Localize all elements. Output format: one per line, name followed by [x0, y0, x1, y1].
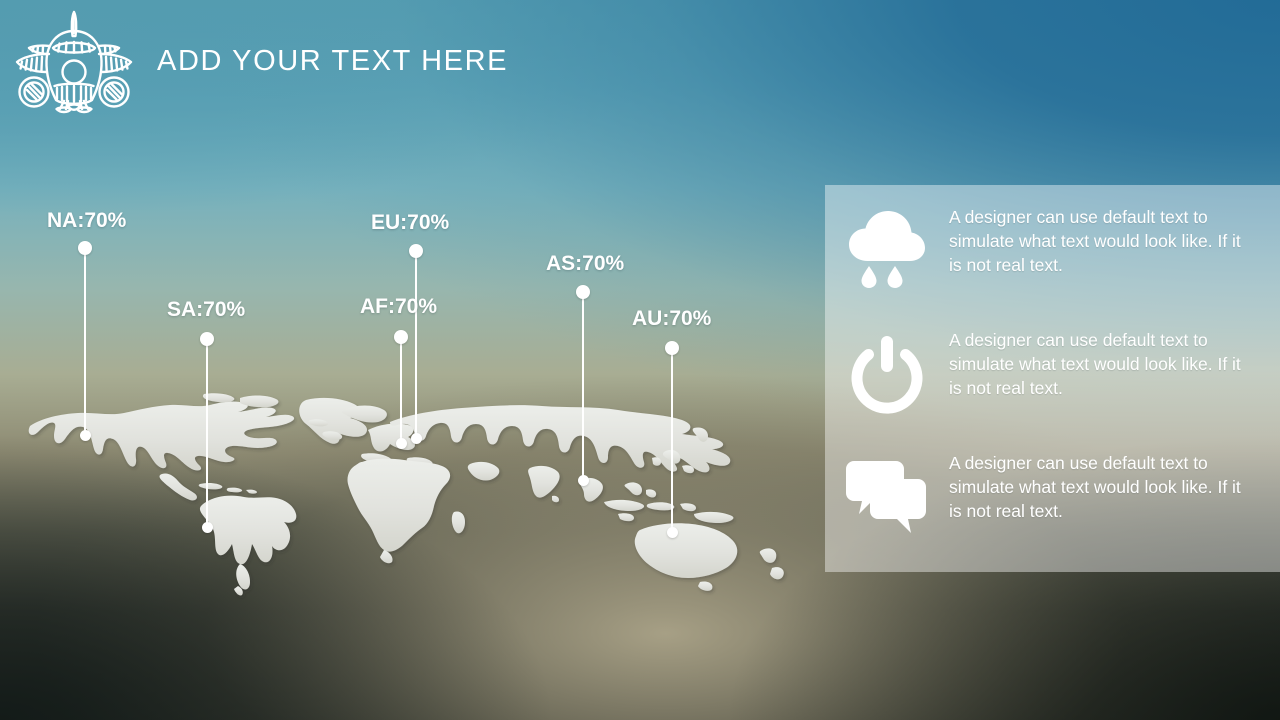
map-pin-as[interactable]	[576, 285, 590, 487]
pin-stem	[415, 251, 417, 438]
map-pin-eu[interactable]	[409, 244, 423, 445]
pin-head-icon	[665, 341, 679, 355]
pin-anchor-dot	[578, 475, 589, 486]
pin-anchor-dot	[396, 438, 407, 449]
map-pin-af[interactable]	[394, 330, 408, 450]
pin-label-as: AS:70%	[546, 252, 624, 276]
header: ADD YOUR TEXT HERE	[0, 0, 1280, 128]
page-title: ADD YOUR TEXT HERE	[157, 45, 508, 78]
pin-head-icon	[409, 244, 423, 258]
pin-head-icon	[78, 241, 92, 255]
pin-head-icon	[200, 332, 214, 346]
info-row-text: A designer can use default text to simul…	[949, 451, 1254, 523]
pin-anchor-dot	[202, 522, 213, 533]
info-row-text: A designer can use default text to simul…	[949, 205, 1254, 277]
pin-stem	[400, 337, 402, 443]
pin-anchor-dot	[80, 430, 91, 441]
map-pin-sa[interactable]	[200, 332, 214, 534]
info-row-rain[interactable]: A designer can use default text to simul…	[825, 205, 1280, 293]
rain-cloud-icon	[845, 209, 929, 293]
pin-head-icon	[394, 330, 408, 344]
slide-canvas: ADD YOUR TEXT HERE	[0, 0, 1280, 720]
info-row-chat[interactable]: A designer can use default text to simul…	[825, 451, 1280, 539]
power-icon	[845, 332, 929, 416]
pin-label-na: NA:70%	[47, 209, 126, 233]
pin-label-eu: EU:70%	[371, 211, 449, 235]
pin-stem	[582, 292, 584, 480]
pin-anchor-dot	[411, 433, 422, 444]
airplane-sketch-icon	[8, 6, 140, 118]
info-row-power[interactable]: A designer can use default text to simul…	[825, 328, 1280, 416]
pin-label-af: AF:70%	[360, 295, 437, 319]
pin-label-sa: SA:70%	[167, 298, 245, 322]
map-pin-au[interactable]	[665, 341, 679, 539]
pin-stem	[84, 248, 86, 435]
pin-head-icon	[576, 285, 590, 299]
pin-anchor-dot	[667, 527, 678, 538]
pin-stem	[671, 348, 673, 532]
map-pin-na[interactable]	[78, 241, 92, 442]
pin-stem	[206, 339, 208, 527]
chat-bubbles-icon	[845, 455, 929, 539]
info-row-text: A designer can use default text to simul…	[949, 328, 1254, 400]
info-panel: A designer can use default text to simul…	[825, 185, 1280, 572]
pin-label-au: AU:70%	[632, 307, 711, 331]
